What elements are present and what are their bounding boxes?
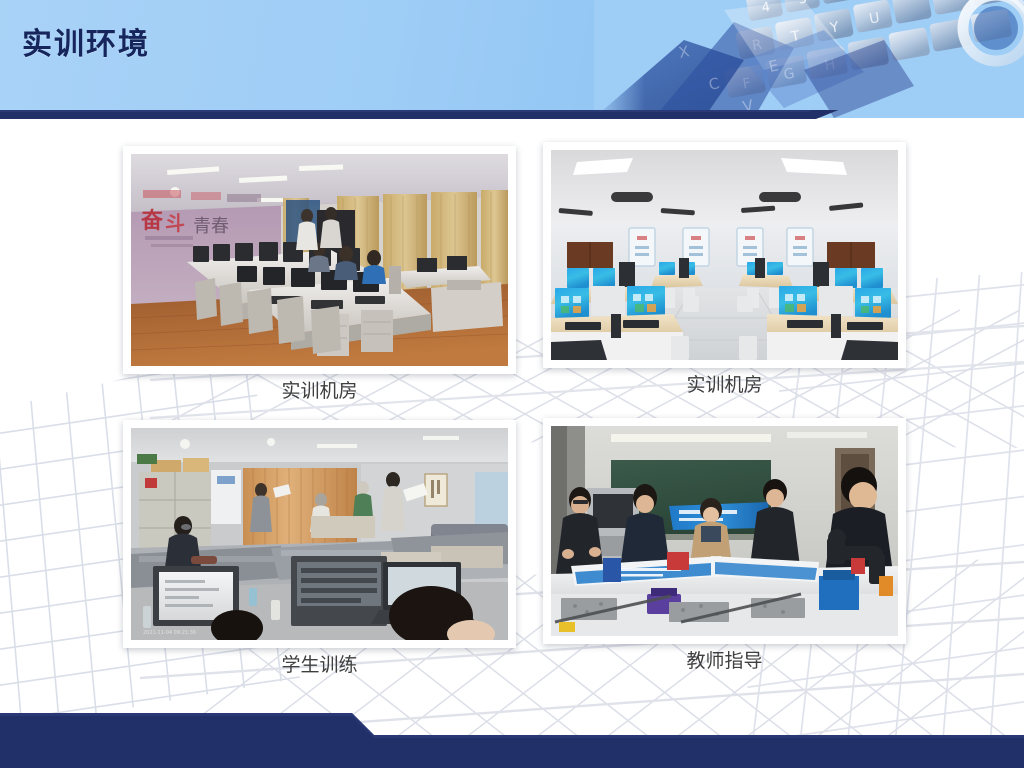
photo-caption-4: 教师指导 (543, 652, 906, 673)
gallery-cell-2: 实训机房 (543, 142, 906, 368)
svg-text:斗: 斗 (165, 211, 185, 235)
slide-root: 4 5 6 7 8 (0, 0, 1024, 768)
slide-header: 4 5 6 7 8 (0, 0, 1024, 120)
photo-frame-3[interactable]: 2021-11-04 09:21:36 (123, 420, 516, 648)
computer-lab-render-photo-2 (551, 150, 898, 360)
photo-frame-2[interactable] (543, 142, 906, 368)
computer-lab-photo-1: 奋 斗 青春 (131, 154, 508, 366)
teacher-guidance-photo-4 (551, 426, 898, 636)
svg-text:青春: 青春 (193, 216, 229, 237)
photo-frame-1[interactable]: 奋 斗 青春 (123, 146, 516, 374)
photo-caption-1: 实训机房 (123, 382, 516, 403)
header-decoration-art: 4 5 6 7 8 (594, 0, 1024, 118)
photo-caption-3: 学生训练 (123, 656, 516, 677)
student-training-photo-3: 2021-11-04 09:21:36 (131, 428, 508, 640)
svg-text:2021-11-04 09:21:36: 2021-11-04 09:21:36 (143, 630, 196, 636)
photo-gallery: 奋 斗 青春 (0, 118, 1024, 718)
gallery-cell-3: 2021-11-04 09:21:36 学生训练 (123, 420, 516, 648)
photo-caption-2: 实训机房 (543, 376, 906, 397)
photo-frame-4[interactable] (543, 418, 906, 644)
gallery-cell-1: 奋 斗 青春 (123, 146, 516, 374)
page-title: 实训环境 (22, 30, 150, 60)
gallery-cell-4: 教师指导 (543, 418, 906, 644)
svg-text:奋: 奋 (140, 209, 164, 234)
